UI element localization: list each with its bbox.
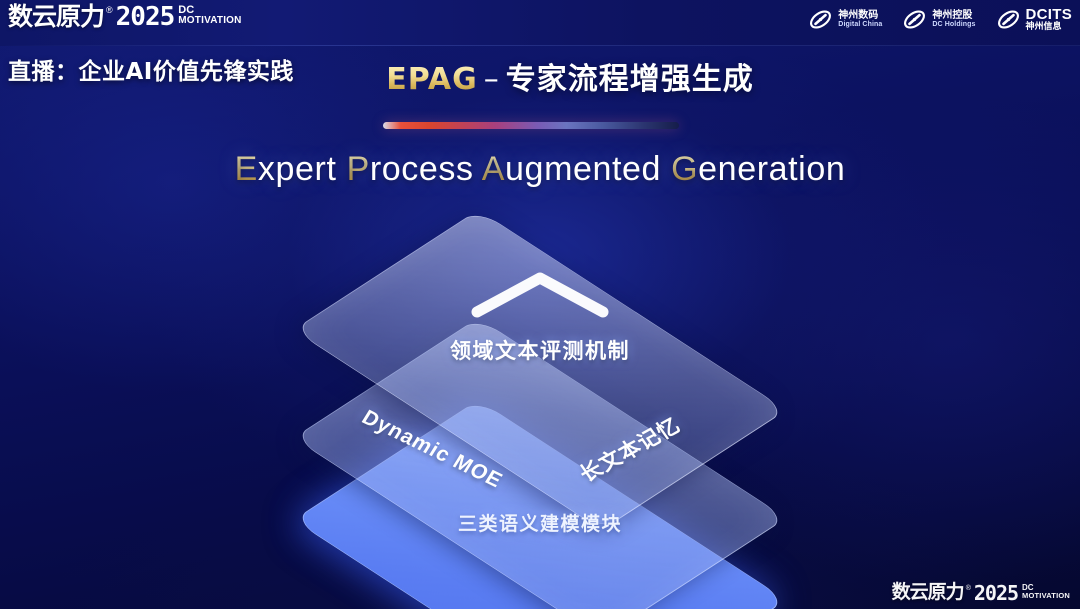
digital-china-swirl-icon: [808, 7, 833, 32]
brand-registered-mark: ®: [106, 6, 113, 15]
english-subtitle: Expert Process Augmented Generation: [0, 150, 1080, 189]
subtitle-word-process: Process: [347, 150, 474, 188]
subtitle-word-generation: Generation: [671, 150, 845, 188]
footer-brand-year: 2025: [974, 583, 1018, 603]
brand-dc-motivation: DC MOTIVATION: [178, 5, 241, 27]
partner-name-en: DC Holdings: [932, 21, 975, 28]
subtitle-word-augmented: Augmented: [482, 150, 661, 188]
partner-name-cn: 神州数码: [838, 11, 882, 22]
partner-logo-dc-holdings: 神州控股 DC Holdings: [902, 7, 975, 32]
partner-logo-digital-china: 神州数码 Digital China: [808, 7, 882, 32]
brand-logo: 数云原力 ® 2025 DC MOTIVATION: [8, 4, 242, 30]
partner-name-en: Digital China: [838, 21, 882, 28]
footer-brand-dc-motivation: DC MOTIVATION: [1022, 584, 1070, 600]
page-title: EPAG–专家流程增强生成: [0, 54, 1080, 98]
chevron-up-icon: [467, 268, 613, 320]
footer-brand-watermark: 数云原力 ® 2025 DC MOTIVATION: [892, 583, 1070, 603]
title-acronym: EPAG: [386, 62, 478, 97]
brand-year: 2025: [116, 4, 175, 30]
partner-logo-group: 神州数码 Digital China 神州控股 DC Holdings: [808, 7, 1072, 33]
footer-brand-registered-mark: ®: [966, 585, 971, 592]
partner-name-cn: 神州信息: [1026, 22, 1073, 33]
partner-logo-dcits: DCITS 神州信息: [996, 7, 1073, 33]
dc-holdings-swirl-icon: [902, 7, 927, 32]
title-dash: –: [484, 62, 500, 97]
dcits-swirl-icon: [996, 7, 1021, 32]
title-chinese: 专家流程增强生成: [506, 62, 754, 97]
subtitle-word-expert: Expert: [235, 150, 337, 188]
diagram-label-bottom: 三类语义建模模块: [0, 509, 1080, 536]
partner-name-cn: 神州控股: [932, 11, 975, 22]
footer-brand-name-cn: 数云原力: [892, 583, 964, 602]
brand-name-cn: 数云原力: [8, 4, 104, 29]
brand-motivation-text: MOTIVATION: [178, 16, 241, 27]
diagram-label-top: 领域文本评测机制: [0, 335, 1080, 365]
partner-name-en: DCITS: [1026, 7, 1073, 22]
footer-brand-motivation-text: MOTIVATION: [1022, 592, 1070, 600]
gradient-divider: [383, 122, 679, 129]
slide-canvas: 数云原力 ® 2025 DC MOTIVATION 直播：企业AI价值先锋实践 …: [0, 0, 1080, 609]
